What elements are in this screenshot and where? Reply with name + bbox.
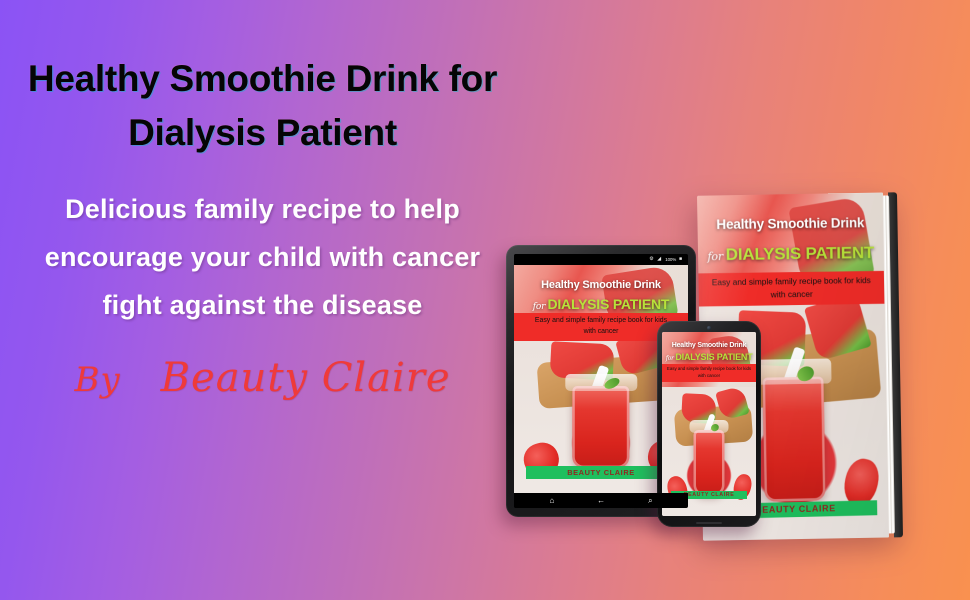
author-name: Beauty Claire [161, 355, 451, 401]
text-column: Healthy Smoothie Drink for Dialysis Pati… [0, 0, 525, 600]
page-title: Healthy Smoothie Drink for Dialysis Pati… [28, 52, 498, 159]
cover-subject-line: forDIALYSIS PATIENT [666, 352, 753, 362]
promo-banner: Healthy Smoothie Drink for Dialysis Pati… [0, 0, 970, 600]
cover-description-line-1: Easy and simple family recipe book for k… [662, 366, 756, 373]
cover-title: Healthy Smoothie Drink [521, 279, 681, 291]
cover-description-line-2: with cancer [662, 373, 756, 380]
phone-chin [696, 522, 722, 524]
battery-percent-label: 100% [665, 257, 676, 262]
cover-subject-line: forDIALYSIS PATIENT [705, 243, 876, 265]
author-byline: ByBeauty Claire [28, 329, 498, 401]
back-icon[interactable]: ← [597, 497, 605, 505]
page-subtitle: Delicious family recipe to help encourag… [13, 159, 513, 329]
cover-subject-line: forDIALYSIS PATIENT [521, 296, 681, 312]
cover-subject: DIALYSIS PATIENT [547, 296, 669, 312]
byline-prefix: By [74, 360, 120, 400]
battery-icon: ■ [679, 257, 684, 262]
cover-title-connector: for [707, 250, 723, 263]
search-icon[interactable]: ⌕ [648, 497, 652, 505]
cover-title: Healthy Smoothie Drink [705, 216, 876, 233]
phone-screen: Healthy Smoothie Drink forDIALYSIS PATIE… [662, 332, 756, 516]
smoothie-jar-image [693, 430, 724, 496]
wifi-icon: ◢ [657, 257, 662, 262]
tablet-status-bar: ⚙ ◢ 100% ■ [514, 254, 688, 265]
cover-title-connector: for [533, 302, 545, 312]
gear-icon: ⚙ [649, 257, 654, 262]
cover-subject: DIALYSIS PATIENT [726, 243, 875, 264]
cover-description-line-2: with cancer [698, 287, 884, 303]
cover-description-band: Easy and simple family recipe book for k… [662, 364, 756, 381]
smoothie-jar-image [762, 376, 825, 501]
phone-cover-art: Healthy Smoothie Drink forDIALYSIS PATIE… [662, 332, 756, 516]
front-camera-icon [707, 326, 711, 330]
tablet-nav-bar[interactable]: ⌂ ← ⌕ [514, 493, 688, 508]
cover-title-connector: for [666, 355, 674, 362]
cover-description-band: Easy and simple family recipe book for k… [698, 270, 884, 306]
home-icon[interactable]: ⌂ [549, 497, 554, 505]
smoothie-jar-image [572, 386, 629, 468]
cover-subject: DIALYSIS PATIENT [675, 352, 752, 362]
cover-author-badge: BEAUTY CLAIRE [526, 466, 676, 479]
cover-title: Healthy Smoothie Drink [666, 342, 753, 349]
